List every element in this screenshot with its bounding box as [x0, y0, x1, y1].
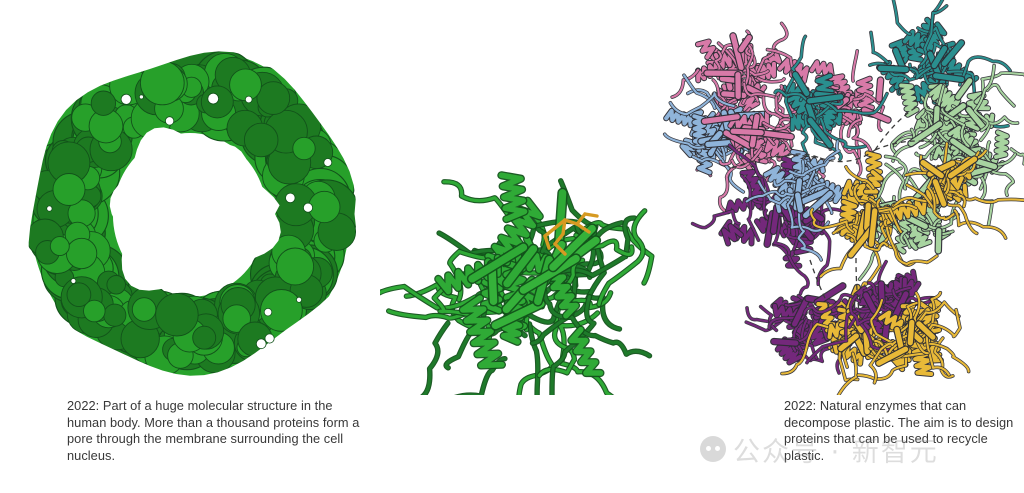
ring-vacancy — [303, 203, 312, 212]
ring-vacancy — [256, 339, 266, 349]
ligand-bond — [563, 220, 565, 234]
panel-plastic-enzyme: 2022: Natural enzymes that can decompose… — [380, 0, 660, 493]
caption-nuclear-pore: 2022: Part of a huge molecular structure… — [67, 398, 367, 464]
ring-vacancy — [139, 95, 143, 99]
ring-subunit-blob — [104, 304, 126, 326]
ring-subunits — [0, 0, 380, 395]
ring-subunit-blob — [230, 69, 262, 101]
ring-subunit-blob — [107, 276, 126, 295]
ring-subunit-blob — [277, 248, 314, 285]
nuclear-pore-complex-ring-image — [0, 0, 380, 395]
panel-antibiotic-resistance-enzyme: 2023: A bacterial enzyme that causes ant… — [660, 0, 1024, 493]
ribbon-segment — [444, 182, 507, 214]
ring-subunit-blob — [66, 238, 96, 268]
ring-vacancy — [296, 297, 301, 302]
ring-vacancy — [121, 94, 131, 104]
ring-vacancy — [245, 96, 252, 103]
ring-subunit-blob — [293, 137, 315, 159]
ring-subunit-blob — [156, 293, 199, 336]
ribbon-segment — [936, 231, 942, 251]
ring-subunit-blob — [244, 123, 278, 157]
ring-subunit-blob — [257, 82, 290, 115]
ring-subunit-blob — [50, 237, 69, 256]
ring-vacancy — [47, 206, 52, 211]
ring-vacancy — [165, 117, 173, 125]
ring-vacancy — [71, 279, 76, 284]
ring-subunit-blob — [132, 298, 156, 322]
ring-subunit-blob — [193, 326, 216, 349]
ring-vacancy — [264, 308, 272, 316]
ligand-bond — [585, 214, 597, 216]
ring-vacancy — [286, 193, 296, 203]
ring-subunit-blob — [53, 174, 85, 206]
panel-nuclear-pore: 2022: Part of a huge molecular structure… — [0, 0, 380, 493]
ribbon-segment — [877, 80, 882, 99]
bacterial-enzyme-complex-image — [660, 0, 1024, 395]
ring-vacancy — [265, 334, 274, 343]
protein-chain-domains — [660, 0, 1024, 395]
ring-vacancy — [324, 159, 332, 167]
ring-subunit-blob — [309, 191, 340, 222]
ring-subunit-blob — [91, 91, 115, 115]
ring-vacancy — [208, 93, 219, 104]
cartoon-ribbon-green — [380, 175, 652, 395]
ring-subunit-blob — [67, 283, 91, 307]
plastic-degrading-enzyme-image — [380, 0, 660, 395]
protein-structures-figure: 2022: Part of a huge molecular structure… — [0, 0, 1024, 493]
